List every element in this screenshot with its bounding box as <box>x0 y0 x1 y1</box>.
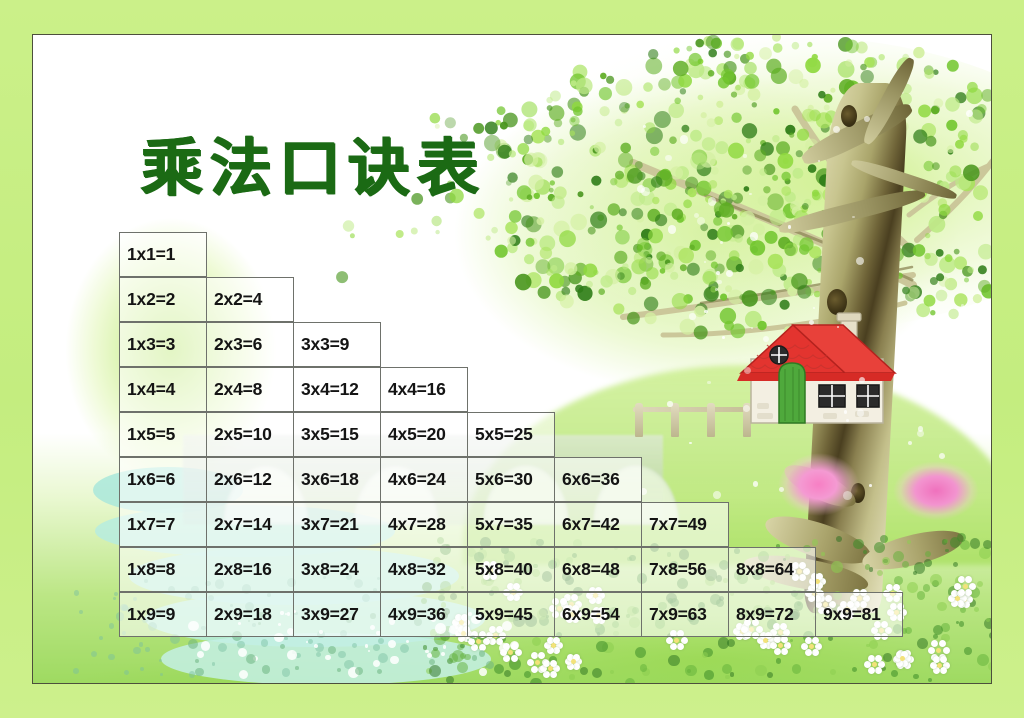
table-cell: 2x4=8 <box>206 367 294 412</box>
table-cell: 4x6=24 <box>380 457 468 502</box>
table-cell: 6x8=48 <box>554 547 642 592</box>
table-cell: 9x9=81 <box>815 592 903 637</box>
table-row: 1x7=72x7=143x7=214x7=285x7=356x7=427x7=4… <box>119 502 902 547</box>
table-cell: 4x4=16 <box>380 367 468 412</box>
table-cell: 1x4=4 <box>119 367 207 412</box>
table-cell: 1x8=8 <box>119 547 207 592</box>
table-cell: 7x9=63 <box>641 592 729 637</box>
table-cell: 5x9=45 <box>467 592 555 637</box>
poster-canvas: 乘法口诀表 1x1=11x2=22x2=41x3=32x3=63x3=91x4=… <box>32 34 992 684</box>
table-cell: 4x7=28 <box>380 502 468 547</box>
table-cell: 7x8=56 <box>641 547 729 592</box>
table-cell: 6x6=36 <box>554 457 642 502</box>
poster: 乘法口诀表 1x1=11x2=22x2=41x3=32x3=63x3=91x4=… <box>0 0 1024 718</box>
table-cell: 3x6=18 <box>293 457 381 502</box>
table-row: 1x1=1 <box>119 232 902 277</box>
table-cell: 1x5=5 <box>119 412 207 457</box>
table-cell: 2x7=14 <box>206 502 294 547</box>
table-cell: 3x4=12 <box>293 367 381 412</box>
page-title: 乘法口诀表 <box>141 117 486 207</box>
table-row: 1x6=62x6=123x6=184x6=245x6=306x6=36 <box>119 457 902 502</box>
table-cell: 6x7=42 <box>554 502 642 547</box>
pond-shape <box>161 633 491 684</box>
table-cell: 1x9=9 <box>119 592 207 637</box>
table-cell: 2x8=16 <box>206 547 294 592</box>
table-row: 1x4=42x4=83x4=124x4=16 <box>119 367 902 412</box>
table-row: 1x5=52x5=103x5=154x5=205x5=25 <box>119 412 902 457</box>
table-cell: 7x7=49 <box>641 502 729 547</box>
table-cell: 6x9=54 <box>554 592 642 637</box>
table-cell: 4x8=32 <box>380 547 468 592</box>
table-cell: 2x5=10 <box>206 412 294 457</box>
table-cell: 1x2=2 <box>119 277 207 322</box>
table-cell: 4x9=36 <box>380 592 468 637</box>
table-cell: 2x2=4 <box>206 277 294 322</box>
table-row: 1x3=32x3=63x3=9 <box>119 322 902 367</box>
table-row: 1x2=22x2=4 <box>119 277 902 322</box>
table-cell: 8x8=64 <box>728 547 816 592</box>
blossom-bush <box>893 461 979 527</box>
table-cell: 4x5=20 <box>380 412 468 457</box>
table-row: 1x8=82x8=163x8=244x8=325x8=406x8=487x8=5… <box>119 547 902 592</box>
table-cell: 2x9=18 <box>206 592 294 637</box>
table-cell: 5x6=30 <box>467 457 555 502</box>
table-cell: 3x8=24 <box>293 547 381 592</box>
table-cell: 2x6=12 <box>206 457 294 502</box>
table-cell: 3x9=27 <box>293 592 381 637</box>
table-cell: 1x1=1 <box>119 232 207 277</box>
table-cell: 3x7=21 <box>293 502 381 547</box>
table-cell: 5x5=25 <box>467 412 555 457</box>
multiplication-table: 1x1=11x2=22x2=41x3=32x3=63x3=91x4=42x4=8… <box>119 232 902 637</box>
table-row: 1x9=92x9=183x9=274x9=365x9=456x9=547x9=6… <box>119 592 902 637</box>
table-cell: 2x3=6 <box>206 322 294 367</box>
table-cell: 5x8=40 <box>467 547 555 592</box>
table-cell: 1x6=6 <box>119 457 207 502</box>
table-cell: 1x7=7 <box>119 502 207 547</box>
table-cell: 8x9=72 <box>728 592 816 637</box>
table-cell: 5x7=35 <box>467 502 555 547</box>
table-cell: 3x5=15 <box>293 412 381 457</box>
table-cell: 1x3=3 <box>119 322 207 367</box>
table-cell: 3x3=9 <box>293 322 381 367</box>
